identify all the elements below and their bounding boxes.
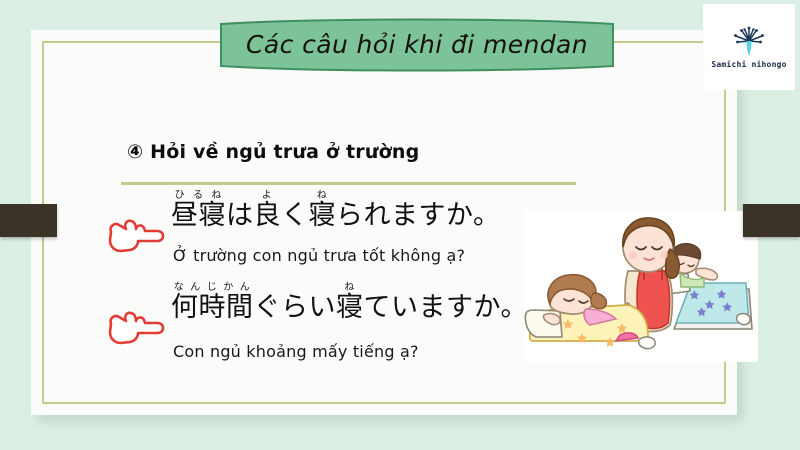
vietnamese-translation-2: Con ngủ khoảng mấy tiếng ạ? <box>173 342 419 361</box>
slide-background: ④ Hỏi về ngủ trưa ở trường 昼寝ひるねは良よく寝ねられ… <box>0 0 800 450</box>
side-ribbon-right <box>743 204 800 237</box>
nap-time-teacher-and-children-illustration <box>524 211 758 362</box>
logo-box: Samichi nihongo <box>703 4 795 90</box>
ruby-segment: 寝ね <box>336 292 364 323</box>
tree-sprout-icon <box>732 25 766 57</box>
title-banner: Các câu hỏi khi đi mendan <box>219 18 615 72</box>
pointing-hand-right-icon <box>105 304 165 348</box>
ruby-segment: 寝ね <box>309 200 337 231</box>
side-ribbon-left <box>0 204 57 237</box>
ruby-segment: 良よ <box>254 200 282 231</box>
title-banner-label: Các câu hỏi khi đi mendan <box>219 18 615 72</box>
heading-divider <box>121 182 576 185</box>
vietnamese-translation-1: Ở trường con ngủ trưa tốt không ạ? <box>173 246 465 265</box>
pointing-hand-right-icon <box>105 212 165 256</box>
japanese-sentence-2: 何時間なんじかんぐらい寝ねていますか。 <box>171 282 528 326</box>
ruby-segment: 何時間なんじかん <box>171 292 254 323</box>
page-title: ④ Hỏi về ngủ trưa ở trường <box>127 141 419 163</box>
ruby-segment: 昼寝ひるね <box>171 200 226 231</box>
japanese-sentence-1: 昼寝ひるねは良よく寝ねられますか。 <box>171 190 500 234</box>
content-card: ④ Hỏi về ngủ trưa ở trường 昼寝ひるねは良よく寝ねられ… <box>31 30 737 415</box>
logo-label: Samichi nihongo <box>711 60 786 69</box>
